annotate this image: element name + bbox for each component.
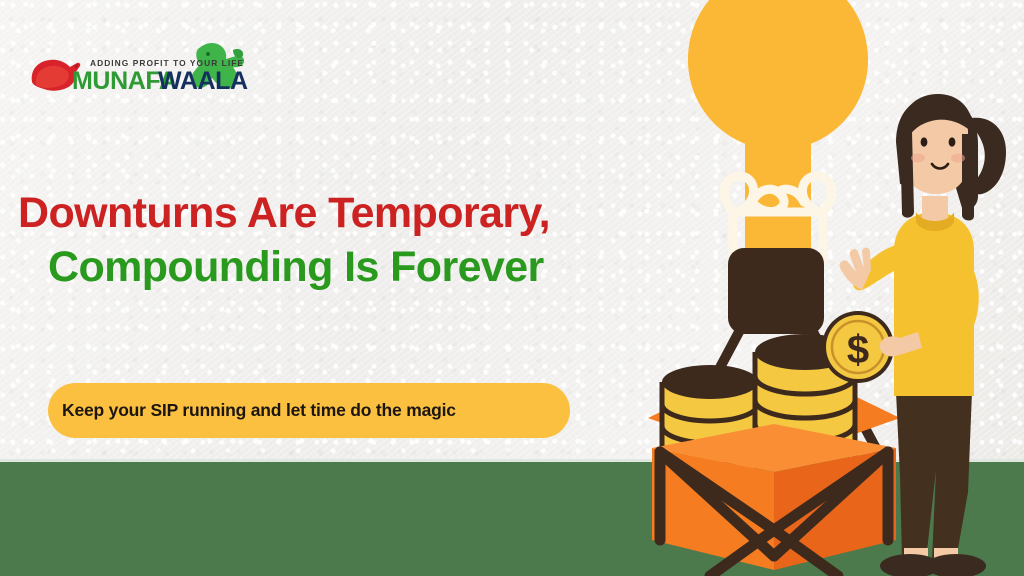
lightbulb-icon (688, 0, 868, 334)
bulb-base (728, 248, 824, 334)
cardboard-box (652, 424, 896, 570)
person-pants (896, 392, 972, 560)
promo-banner: ADDING PROFIT TO YOUR LIFE MUNAFA WAALA … (0, 0, 1024, 576)
munafawaala-logo[interactable]: ADDING PROFIT TO YOUR LIFE MUNAFA WAALA (22, 40, 254, 100)
logo-brand-waala: WAALA (158, 67, 248, 95)
subtitle-pill: Keep your SIP running and let time do th… (48, 383, 570, 438)
coin-symbol: $ (847, 328, 869, 372)
illustration: $ (600, 0, 1024, 576)
headline-line-1: Downturns Are Temporary, (18, 186, 550, 240)
headline-line-2: Compounding Is Forever (18, 240, 550, 294)
subtitle-text: Keep your SIP running and let time do th… (48, 400, 456, 421)
headline-block: Downturns Are Temporary, Compounding Is … (18, 186, 550, 294)
